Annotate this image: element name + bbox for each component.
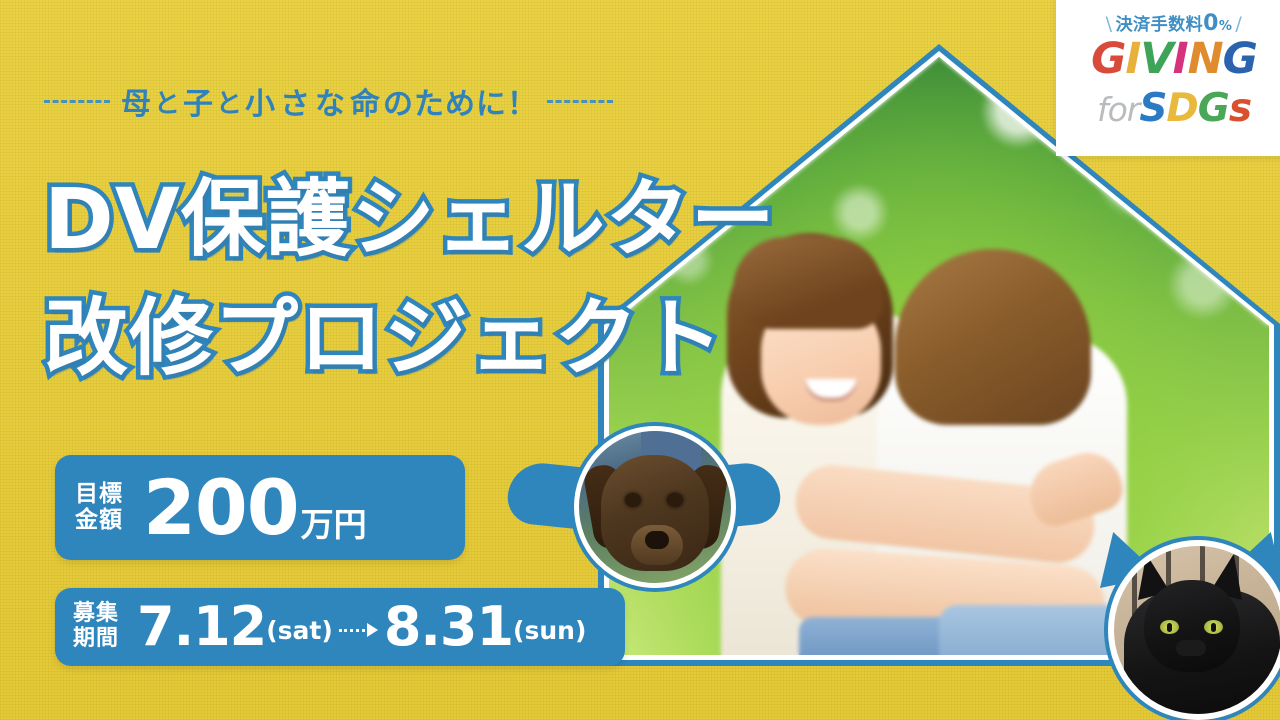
slash-left: \ [1106,13,1113,35]
subtitle-text: 母 と 子 と 小 さ な 命 のために！ [119,79,538,123]
subtitle-char: 子 [181,79,216,123]
dashed-rule-left [44,100,110,103]
dog-photo-eye-left [625,493,641,507]
cat-pupil [1211,623,1216,632]
for-text: for [1097,90,1139,129]
giving-letter: N [1188,34,1223,84]
goal-amount-value: 200 [143,470,299,546]
subtitle-char: さ [278,79,313,123]
dog-photo-nose [645,531,669,549]
goal-amount-unit: 万円 [301,498,367,546]
arrow-head [367,623,378,637]
payment-fee-note: \決済手数料0%/ [1056,10,1280,36]
giving-letter: V [1140,34,1172,84]
period-end-date: 8.31 [384,600,513,654]
subtitle-char: 母 [119,79,154,123]
dog-photo [574,426,736,588]
dashed-rule-right [547,100,613,103]
cat-pupil [1167,623,1172,632]
title-line-1: DV保護シェルター [44,160,776,279]
page-title: DV保護シェルター 改修プロジェクト [44,160,776,399]
subtitle-char: と [154,83,181,120]
period-label-line-2: 期間 [73,627,119,652]
for-sdgs-wordmark: forSDGs [1056,89,1280,128]
dog-photo-badge [508,426,780,618]
arrow-dots [339,629,365,632]
period-label-line-1: 募集 [73,602,119,627]
sdgs-letter: G [1198,86,1229,131]
goal-label: 目標 金額 [75,482,123,534]
cat-photo-head [1144,580,1240,672]
period-start-date: 7.12 [137,600,266,654]
subtitle-char: な [313,79,348,123]
cat-photo-eye-right [1204,620,1223,634]
giving-letter: G [1223,34,1257,84]
cat-photo-snout [1176,640,1206,656]
subtitle-char: と [216,83,243,120]
sdgs-letter: s [1229,86,1251,131]
period-end-dow: (sun) [513,616,586,645]
cat-photo [1108,540,1280,720]
sdgs-letter: D [1166,86,1197,131]
giving-wordmark: GIVING [1056,38,1280,81]
sdgs-letter: S [1139,86,1166,131]
goal-label-line-2: 金額 [75,508,123,534]
cat-photo-badge [1094,526,1280,720]
poster-canvas: 母 と 子 と 小 さ な 命 のために！ DV保護シェルター 改修プロジェクト… [0,0,1280,720]
dog-photo-eye-right [667,493,683,507]
goal-amount-box: 目標 金額 200 万円 [55,455,465,560]
period-label: 募集 期間 [73,602,119,651]
subtitle-char: 命 [348,79,383,123]
fee-zero: 0 [1203,11,1219,36]
title-line-2: 改修プロジェクト [44,279,776,398]
arrow-right-icon [339,617,378,637]
giving-letter: I [1173,34,1188,84]
subtitle-row: 母 と 子 と 小 さ な 命 のために！ [44,78,613,124]
cat-photo-eye-left [1160,620,1179,634]
subtitle-tail: のために！ [383,79,538,123]
goal-label-line-1: 目標 [75,482,123,508]
fee-text: 決済手数料 [1116,15,1204,35]
slash-right: / [1235,13,1242,35]
giving-letter: I [1125,34,1140,84]
subtitle-char: 小 [243,79,278,123]
giving-for-sdgs-badge: \決済手数料0%/ GIVING forSDGs [1056,0,1280,156]
giving-letter: G [1091,34,1125,84]
fee-percent: % [1219,19,1233,34]
period-start-dow: (sat) [266,616,333,645]
